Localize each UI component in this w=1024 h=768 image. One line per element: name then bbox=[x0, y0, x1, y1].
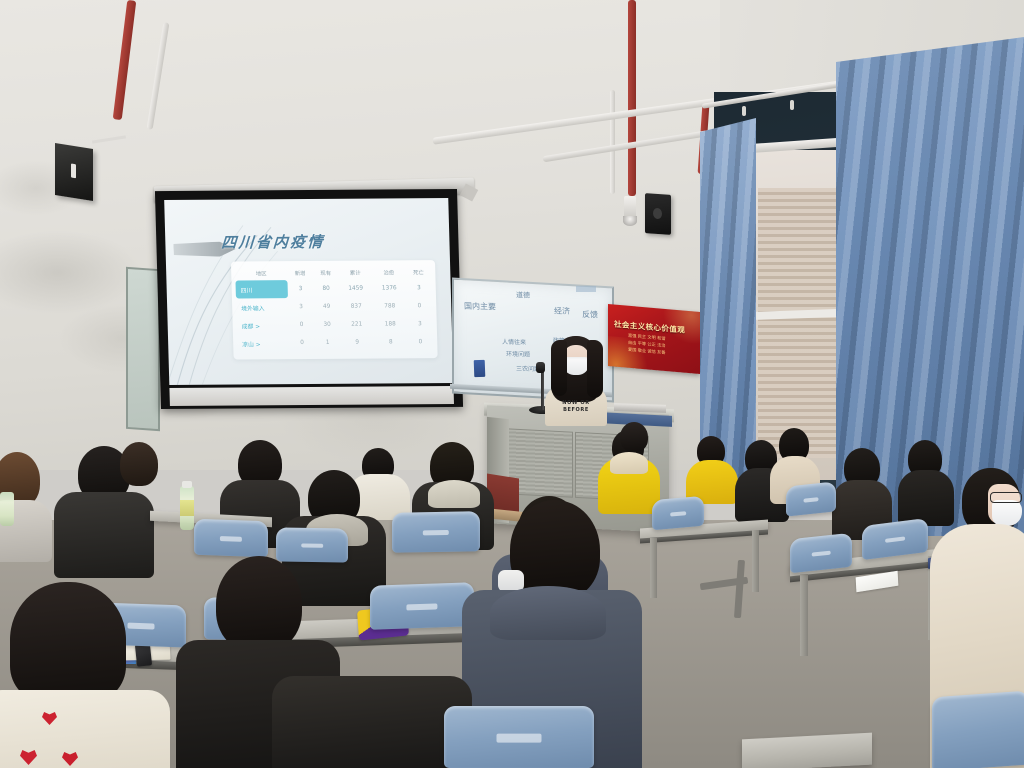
slide: 四川省内疫情 地区 新增 现有 累计 治愈 死亡 bbox=[164, 198, 453, 385]
desk-leg bbox=[752, 530, 759, 592]
whiteboard-note: 环境问题 bbox=[506, 349, 530, 359]
cell: 8 bbox=[374, 333, 408, 351]
chair[interactable] bbox=[932, 691, 1024, 768]
side-chalkboard-panel bbox=[126, 267, 160, 431]
chair-back bbox=[932, 691, 1024, 768]
chair-slot bbox=[423, 530, 449, 536]
student-jacket bbox=[272, 676, 472, 768]
col-header: 现有 bbox=[313, 266, 339, 280]
bottle-cap bbox=[182, 481, 192, 488]
epidemic-data-table: 地区 新增 现有 累计 治愈 死亡 四川 3 bbox=[231, 260, 438, 359]
student bbox=[618, 422, 652, 462]
chair-slot bbox=[301, 543, 323, 548]
table-header-row: 地区 新增 现有 累计 治愈 死亡 bbox=[235, 265, 431, 280]
water-bottle bbox=[0, 492, 14, 526]
chair[interactable] bbox=[194, 519, 268, 558]
row-region: 四川 bbox=[235, 280, 288, 298]
col-header: 死亡 bbox=[405, 265, 431, 279]
cell: 3 bbox=[407, 315, 433, 333]
table-row: 凉山 > 0 1 9 8 0 bbox=[237, 333, 434, 352]
chair[interactable] bbox=[652, 496, 704, 531]
chair[interactable] bbox=[444, 706, 594, 768]
chair-slot bbox=[406, 603, 437, 610]
chair-slot bbox=[497, 734, 542, 743]
cell: 9 bbox=[340, 334, 374, 352]
window-louvers bbox=[758, 188, 840, 458]
glasses-icon bbox=[990, 492, 1022, 503]
student-foreground-left bbox=[0, 582, 160, 768]
chair[interactable] bbox=[392, 511, 480, 553]
row-region: 凉山 > bbox=[237, 334, 290, 352]
ceiling-pipe-red bbox=[628, 0, 636, 196]
wall-banner: 社会主义核心价值观 富强 民主 文明 和谐 自由 平等 公正 法治 爱国 敬业 … bbox=[608, 304, 700, 374]
student-hood bbox=[428, 480, 480, 508]
student bbox=[112, 442, 168, 512]
col-header: 地区 bbox=[235, 266, 287, 280]
table-row: 四川 3 80 1459 1376 3 bbox=[235, 279, 432, 298]
speaker-icon bbox=[55, 143, 93, 201]
speaker-icon bbox=[645, 193, 671, 235]
sweatshirt-line-2: BEFORE bbox=[563, 407, 589, 413]
banner-title: 社会主义核心价值观 bbox=[614, 319, 696, 337]
whiteboard-note: 国内主要 bbox=[464, 301, 496, 313]
presenter-hair-strand bbox=[587, 340, 603, 398]
whiteboard-note: 反馈 bbox=[582, 309, 598, 320]
student bbox=[688, 436, 734, 498]
presenter: NOW OR BEFORE bbox=[545, 336, 607, 422]
chair-slot bbox=[220, 536, 242, 542]
chair[interactable] bbox=[786, 481, 836, 516]
cell: 788 bbox=[373, 297, 407, 315]
whiteboard-note: 人情往来 bbox=[502, 337, 526, 347]
student-head bbox=[120, 442, 158, 486]
cell: 0 bbox=[406, 297, 432, 315]
curtain-hook bbox=[790, 100, 794, 110]
whiteboard-eraser bbox=[474, 360, 486, 377]
ceiling-conduit bbox=[610, 90, 615, 194]
cell: 80 bbox=[313, 280, 339, 298]
cell: 3 bbox=[288, 298, 314, 316]
cell: 837 bbox=[339, 298, 373, 316]
screen-surface: 四川省内疫情 地区 新增 现有 累计 治愈 死亡 bbox=[164, 198, 453, 385]
desk-leg bbox=[650, 538, 657, 598]
cell: 1376 bbox=[372, 279, 406, 297]
student-foreground bbox=[272, 676, 472, 768]
microphone-head bbox=[536, 362, 545, 373]
cell: 188 bbox=[373, 315, 407, 333]
student-head bbox=[620, 422, 648, 452]
screen-bottom-bar bbox=[169, 386, 454, 406]
bottle-label bbox=[180, 500, 194, 516]
row-region: 境外输入 bbox=[236, 298, 289, 316]
whiteboard-label bbox=[576, 286, 596, 292]
slide-title: 四川省内疫情 bbox=[221, 231, 325, 253]
student bbox=[832, 448, 890, 534]
cell: 0 bbox=[289, 334, 315, 352]
cell: 1 bbox=[315, 334, 341, 352]
face-mask-icon bbox=[992, 500, 1022, 526]
cell: 0 bbox=[407, 333, 433, 351]
cell: 1459 bbox=[339, 280, 373, 298]
presenter-hair-strand bbox=[551, 340, 567, 396]
col-header: 新增 bbox=[287, 266, 313, 280]
student-hood bbox=[490, 586, 606, 640]
col-header: 累计 bbox=[338, 266, 372, 280]
cell: 49 bbox=[314, 298, 340, 316]
desk-leg bbox=[800, 574, 808, 656]
cell: 0 bbox=[288, 316, 314, 334]
table-row: 境外输入 3 49 837 788 0 bbox=[236, 297, 433, 316]
chair[interactable] bbox=[370, 582, 474, 630]
cell: 221 bbox=[340, 316, 374, 334]
curtain-hook bbox=[742, 106, 746, 116]
chair[interactable] bbox=[790, 533, 852, 574]
student-head bbox=[10, 582, 126, 702]
student-head bbox=[216, 556, 302, 652]
microphone-stand bbox=[541, 368, 544, 410]
cell: 30 bbox=[314, 316, 340, 334]
whiteboard-note: 道德 bbox=[516, 290, 530, 300]
whiteboard-note: 经济 bbox=[554, 305, 570, 316]
sweatshirt-line-1: NOW OR bbox=[562, 400, 589, 406]
row-region: 成都 > bbox=[236, 316, 289, 334]
projection-screen[interactable]: 四川省内疫情 地区 新增 现有 累计 治愈 死亡 bbox=[155, 189, 463, 409]
desk bbox=[742, 733, 872, 768]
cell: 3 bbox=[287, 280, 313, 298]
sweatshirt-text: NOW OR BEFORE bbox=[561, 400, 591, 414]
col-header: 治愈 bbox=[372, 265, 406, 279]
cell: 3 bbox=[406, 279, 432, 297]
classroom-photo: 四川省内疫情 地区 新增 现有 累计 治愈 死亡 bbox=[0, 0, 1024, 768]
table-row: 成都 > 0 30 221 188 3 bbox=[236, 315, 433, 334]
wall-camera-icon bbox=[624, 196, 636, 218]
